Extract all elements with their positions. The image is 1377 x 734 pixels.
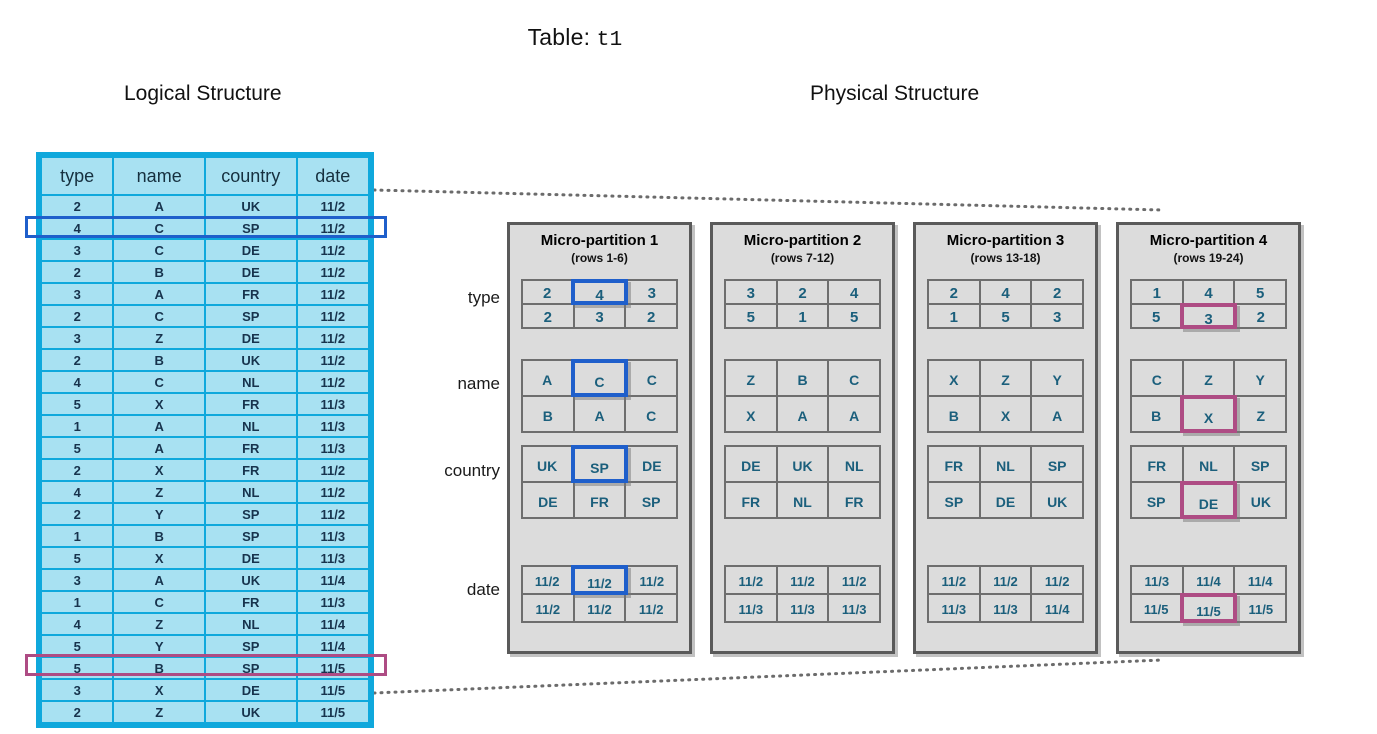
micro-partition-3-cell-type: 2 bbox=[1030, 279, 1084, 305]
logical-cell-country: NL bbox=[206, 614, 296, 634]
logical-cell-name: X bbox=[114, 460, 204, 480]
logical-cell-country: UK bbox=[206, 570, 296, 590]
micro-partition-2-cell-name: B bbox=[776, 359, 830, 397]
logical-table-row: 5XFR11/3 bbox=[42, 394, 368, 414]
logical-table-row: 3ZDE11/2 bbox=[42, 328, 368, 348]
logical-cell-country: FR bbox=[206, 460, 296, 480]
micro-partition-2-cell-name: A bbox=[776, 395, 830, 433]
micro-partition-4-cell-name: Z bbox=[1235, 395, 1287, 433]
physical-column-label-date: date bbox=[467, 580, 500, 600]
micro-partition-4-cell-name: Z bbox=[1182, 359, 1236, 397]
logical-structure-heading: Logical Structure bbox=[124, 82, 282, 106]
micro-partition-1-cell-country: UK bbox=[521, 445, 573, 483]
logical-cell-type: 3 bbox=[42, 570, 112, 590]
micro-partition-3-cell-date: 11/2 bbox=[927, 565, 981, 595]
logical-table-row: 4CNL11/2 bbox=[42, 372, 368, 392]
logical-cell-type: 2 bbox=[42, 196, 112, 216]
cell-row: DEFRSP bbox=[521, 483, 678, 519]
cell-row: 324 bbox=[724, 279, 881, 305]
logical-cell-country: DE bbox=[206, 262, 296, 282]
logical-table-row: 2BDE11/2 bbox=[42, 262, 368, 282]
physical-column-label-type: type bbox=[468, 288, 500, 308]
micro-partition-1-cell-date: 11/2 bbox=[626, 565, 678, 595]
logical-table-row: 3AUK11/4 bbox=[42, 570, 368, 590]
micro-partition-3-cell-date: 11/2 bbox=[979, 565, 1033, 595]
logical-cell-type: 2 bbox=[42, 460, 112, 480]
micro-partition-3-column-name: XZYBXA bbox=[927, 359, 1084, 433]
cell-row: FRNLSP bbox=[1130, 445, 1287, 483]
micro-partition-3-cell-type: 1 bbox=[927, 303, 981, 329]
logical-cell-date: 11/5 bbox=[298, 658, 368, 678]
logical-cell-date: 11/4 bbox=[298, 570, 368, 590]
micro-partition-1-cell-name: B bbox=[521, 395, 575, 433]
logical-cell-type: 5 bbox=[42, 394, 112, 414]
logical-cell-date: 11/2 bbox=[298, 328, 368, 348]
logical-table-row: 3XDE11/5 bbox=[42, 680, 368, 700]
micro-partition-3-cell-name: X bbox=[979, 395, 1033, 433]
micro-partition-1-cell-name: A bbox=[521, 359, 573, 397]
micro-partition-3-cell-type: 3 bbox=[1030, 303, 1084, 329]
logical-cell-type: 4 bbox=[42, 372, 112, 392]
logical-cell-date: 11/2 bbox=[298, 460, 368, 480]
logical-cell-name: B bbox=[114, 262, 204, 282]
logical-table-row: 5BSP11/5 bbox=[42, 658, 368, 678]
logical-cell-type: 5 bbox=[42, 438, 112, 458]
micro-partition-2[interactable]: Micro-partition 2 (rows 7-12) 324515ZBCX… bbox=[710, 222, 895, 654]
micro-partition-4-title: Micro-partition 4 bbox=[1119, 232, 1298, 249]
physical-column-labels: type name country date bbox=[424, 222, 500, 654]
logical-cell-name: Y bbox=[114, 504, 204, 524]
micro-partition-1-selected-cell-date: 11/2 bbox=[571, 565, 627, 595]
cell-row: 11/211/211/2 bbox=[521, 595, 678, 623]
micro-partition-3-cell-type: 5 bbox=[979, 303, 1033, 329]
cell-row: 11/211/211/2 bbox=[927, 565, 1084, 595]
micro-partition-4-column-name: CZYBXZ bbox=[1130, 359, 1287, 433]
logical-cell-type: 1 bbox=[42, 592, 112, 612]
logical-cell-type: 1 bbox=[42, 416, 112, 436]
logical-cell-name: A bbox=[114, 196, 204, 216]
micro-partition-2-cell-country: NL bbox=[827, 445, 881, 483]
logical-cell-country: UK bbox=[206, 196, 296, 216]
physical-column-label-country: country bbox=[444, 461, 500, 481]
logical-cell-country: NL bbox=[206, 482, 296, 502]
micro-partition-4-subtitle: (rows 19-24) bbox=[1119, 251, 1298, 265]
logical-cell-country: FR bbox=[206, 592, 296, 612]
micro-partition-2-cell-type: 2 bbox=[776, 279, 830, 305]
logical-cell-country: SP bbox=[206, 636, 296, 656]
micro-partition-3-column-type: 242153 bbox=[927, 279, 1084, 329]
logical-cell-country: SP bbox=[206, 658, 296, 678]
logical-cell-type: 2 bbox=[42, 350, 112, 370]
logical-table-row: 2XFR11/2 bbox=[42, 460, 368, 480]
logical-cell-country: DE bbox=[206, 240, 296, 260]
micro-partition-2-column-date: 11/211/211/211/311/311/3 bbox=[724, 565, 881, 623]
micro-partition-3-cell-date: 11/3 bbox=[979, 593, 1033, 623]
micro-partition-2-cell-country: FR bbox=[827, 481, 881, 519]
cell-row: SPDEUK bbox=[1130, 483, 1287, 519]
micro-partition-2-cell-date: 11/2 bbox=[724, 565, 778, 595]
logical-table-row: 2YSP11/2 bbox=[42, 504, 368, 524]
logical-cell-date: 11/2 bbox=[298, 504, 368, 524]
micro-partition-3-column-date: 11/211/211/211/311/311/4 bbox=[927, 565, 1084, 623]
logical-cell-name: Z bbox=[114, 702, 204, 722]
logical-cell-country: UK bbox=[206, 350, 296, 370]
logical-cell-name: Y bbox=[114, 636, 204, 656]
logical-cell-name: C bbox=[114, 372, 204, 392]
cell-row: XAA bbox=[724, 397, 881, 433]
logical-cell-name: Z bbox=[114, 614, 204, 634]
micro-partition-1-column-date: 11/211/211/211/211/211/2 bbox=[521, 565, 678, 623]
logical-table-body: 2AUK11/24CSP11/23CDE11/22BDE11/23AFR11/2… bbox=[42, 196, 368, 722]
logical-cell-name: C bbox=[114, 306, 204, 326]
logical-cell-type: 3 bbox=[42, 284, 112, 304]
micro-partition-4-cell-name: C bbox=[1130, 359, 1184, 397]
micro-partition-1-cell-date: 11/2 bbox=[521, 565, 573, 595]
micro-partition-4-selected-cell-type: 3 bbox=[1180, 303, 1236, 329]
logical-table-row: 1CFR11/3 bbox=[42, 592, 368, 612]
micro-partition-3-cell-name: Z bbox=[979, 359, 1033, 397]
logical-cell-type: 3 bbox=[42, 240, 112, 260]
logical-cell-date: 11/2 bbox=[298, 350, 368, 370]
logical-table-row: 5XDE11/3 bbox=[42, 548, 368, 568]
logical-cell-name: A bbox=[114, 570, 204, 590]
logical-cell-type: 4 bbox=[42, 218, 112, 238]
micro-partition-1-selected-cell-country: SP bbox=[571, 445, 627, 483]
logical-cell-date: 11/2 bbox=[298, 240, 368, 260]
micro-partition-4-cell-date: 11/5 bbox=[1130, 593, 1182, 623]
cell-row: 11/311/311/4 bbox=[927, 595, 1084, 623]
micro-partition-2-cell-type: 1 bbox=[776, 303, 830, 329]
cell-row: FRNLFR bbox=[724, 483, 881, 519]
logical-cell-date: 11/3 bbox=[298, 592, 368, 612]
logical-table-row: 2CSP11/2 bbox=[42, 306, 368, 326]
micro-partition-4-cell-country: SP bbox=[1233, 445, 1287, 483]
cell-row: 243 bbox=[521, 279, 678, 305]
logical-cell-country: DE bbox=[206, 680, 296, 700]
logical-cell-name: X bbox=[114, 394, 204, 414]
logical-table-header-row: type name country date bbox=[42, 158, 368, 194]
logical-cell-type: 2 bbox=[42, 702, 112, 722]
micro-partition-3-cell-type: 2 bbox=[927, 279, 981, 305]
cell-row: XZY bbox=[927, 359, 1084, 397]
micro-partition-4-cell-country: UK bbox=[1235, 481, 1287, 519]
cell-row: 11/511/511/5 bbox=[1130, 595, 1287, 623]
logical-cell-country: NL bbox=[206, 372, 296, 392]
logical-column-header-type: type bbox=[42, 158, 112, 194]
cell-row: 153 bbox=[927, 305, 1084, 329]
logical-cell-date: 11/3 bbox=[298, 548, 368, 568]
micro-partition-2-cell-name: Z bbox=[724, 359, 778, 397]
logical-table-row: 2AUK11/2 bbox=[42, 196, 368, 216]
logical-cell-date: 11/2 bbox=[298, 306, 368, 326]
cell-row: CZY bbox=[1130, 359, 1287, 397]
logical-cell-country: UK bbox=[206, 702, 296, 722]
logical-cell-type: 5 bbox=[42, 658, 112, 678]
micro-partition-3[interactable]: Micro-partition 3 (rows 13-18) 242153XZY… bbox=[913, 222, 1098, 654]
logical-cell-date: 11/2 bbox=[298, 218, 368, 238]
logical-cell-name: X bbox=[114, 548, 204, 568]
logical-cell-date: 11/2 bbox=[298, 284, 368, 304]
logical-cell-type: 3 bbox=[42, 328, 112, 348]
micro-partition-4-column-type: 145532 bbox=[1130, 279, 1287, 329]
logical-table-row: 4CSP11/2 bbox=[42, 218, 368, 238]
micro-partition-4-selected-cell-date: 11/5 bbox=[1180, 593, 1236, 623]
logical-cell-date: 11/5 bbox=[298, 702, 368, 722]
logical-column-header-country: country bbox=[206, 158, 296, 194]
cell-row: ZBC bbox=[724, 359, 881, 397]
micro-partition-1-selected-cell-name: C bbox=[571, 359, 627, 397]
micro-partition-3-cell-name: A bbox=[1030, 395, 1084, 433]
micro-partition-3-cell-name: B bbox=[927, 395, 981, 433]
cell-row: BXA bbox=[927, 397, 1084, 433]
cell-row: BAC bbox=[521, 397, 678, 433]
micro-partition-4-cell-type: 5 bbox=[1130, 303, 1182, 329]
logical-cell-date: 11/3 bbox=[298, 394, 368, 414]
micro-partition-1-cell-country: DE bbox=[521, 481, 575, 519]
micro-partition-4-cell-date: 11/5 bbox=[1235, 593, 1287, 623]
cell-row: ACC bbox=[521, 359, 678, 397]
micro-partition-2-cell-date: 11/3 bbox=[827, 593, 881, 623]
logical-cell-name: B bbox=[114, 350, 204, 370]
micro-partition-3-cell-country: FR bbox=[927, 445, 981, 483]
micro-partition-1-selected-cell-type: 4 bbox=[571, 279, 627, 305]
micro-partition-1-cell-type: 2 bbox=[521, 303, 575, 329]
micro-partition-4-cell-date: 11/3 bbox=[1130, 565, 1184, 595]
cell-row: BXZ bbox=[1130, 397, 1287, 433]
cell-row: 145 bbox=[1130, 279, 1287, 305]
micro-partition-1-subtitle: (rows 1-6) bbox=[510, 251, 689, 265]
micro-partition-1-cell-date: 11/2 bbox=[521, 593, 575, 623]
micro-partition-3-cell-country: UK bbox=[1030, 481, 1084, 519]
logical-cell-type: 5 bbox=[42, 636, 112, 656]
cell-row: 11/311/311/3 bbox=[724, 595, 881, 623]
micro-partition-2-cell-country: FR bbox=[724, 481, 778, 519]
micro-partition-2-cell-country: UK bbox=[776, 445, 830, 483]
logical-cell-name: A bbox=[114, 438, 204, 458]
micro-partition-3-cell-country: SP bbox=[927, 481, 981, 519]
micro-partition-1-cell-name: C bbox=[626, 359, 678, 397]
micro-partition-2-cell-country: DE bbox=[724, 445, 778, 483]
micro-partition-4-cell-name: Y bbox=[1233, 359, 1287, 397]
micro-partition-2-cell-date: 11/3 bbox=[776, 593, 830, 623]
logical-cell-type: 2 bbox=[42, 306, 112, 326]
logical-cell-date: 11/2 bbox=[298, 196, 368, 216]
cell-row: 515 bbox=[724, 305, 881, 329]
logical-cell-name: C bbox=[114, 218, 204, 238]
logical-cell-type: 2 bbox=[42, 504, 112, 524]
logical-cell-country: SP bbox=[206, 526, 296, 546]
micro-partition-4-cell-date: 11/4 bbox=[1233, 565, 1287, 595]
cell-row: UKSPDE bbox=[521, 445, 678, 483]
logical-cell-country: SP bbox=[206, 218, 296, 238]
micro-partition-3-cell-date: 11/2 bbox=[1030, 565, 1084, 595]
cell-row: 11/311/411/4 bbox=[1130, 565, 1287, 595]
logical-cell-type: 1 bbox=[42, 526, 112, 546]
logical-cell-type: 5 bbox=[42, 548, 112, 568]
micro-partition-2-cell-type: 4 bbox=[827, 279, 881, 305]
micro-partition-1[interactable]: Micro-partition 1 (rows 1-6) 243232ACCBA… bbox=[507, 222, 692, 654]
logical-cell-country: SP bbox=[206, 504, 296, 524]
micro-partition-2-cell-name: X bbox=[724, 395, 778, 433]
micro-partition-1-cell-country: SP bbox=[624, 481, 678, 519]
micro-partition-1-column-type: 243232 bbox=[521, 279, 678, 329]
micro-partition-1-cell-country: DE bbox=[626, 445, 678, 483]
logical-cell-name: A bbox=[114, 284, 204, 304]
micro-partition-3-cell-date: 11/4 bbox=[1030, 593, 1084, 623]
micro-partition-4-selected-cell-country: DE bbox=[1180, 481, 1236, 519]
logical-table-row: 3AFR11/2 bbox=[42, 284, 368, 304]
logical-table-row: 4ZNL11/4 bbox=[42, 614, 368, 634]
cell-row: DEUKNL bbox=[724, 445, 881, 483]
logical-column-header-date: date bbox=[298, 158, 368, 194]
micro-partition-1-cell-type: 2 bbox=[624, 303, 678, 329]
micro-partition-2-cell-country: NL bbox=[776, 481, 830, 519]
logical-table-row: 1BSP11/3 bbox=[42, 526, 368, 546]
logical-cell-date: 11/2 bbox=[298, 262, 368, 282]
micro-partition-1-cell-name: C bbox=[624, 395, 678, 433]
micro-partition-4[interactable]: Micro-partition 4 (rows 19-24) 145532CZY… bbox=[1116, 222, 1301, 654]
cell-row: FRNLSP bbox=[927, 445, 1084, 483]
micro-partition-2-cell-name: A bbox=[827, 395, 881, 433]
logical-cell-name: Z bbox=[114, 328, 204, 348]
cell-row: 532 bbox=[1130, 305, 1287, 329]
micro-partition-1-cell-date: 11/2 bbox=[624, 593, 678, 623]
logical-cell-country: NL bbox=[206, 416, 296, 436]
micro-partition-2-cell-type: 5 bbox=[827, 303, 881, 329]
logical-cell-date: 11/3 bbox=[298, 526, 368, 546]
logical-cell-date: 11/4 bbox=[298, 614, 368, 634]
micro-partition-4-cell-country: FR bbox=[1130, 445, 1184, 483]
micro-partition-3-cell-country: NL bbox=[979, 445, 1033, 483]
logical-cell-name: Z bbox=[114, 482, 204, 502]
micro-partition-2-cell-type: 3 bbox=[724, 279, 778, 305]
logical-cell-type: 3 bbox=[42, 680, 112, 700]
cell-row: 242 bbox=[927, 279, 1084, 305]
physical-structure-heading: Physical Structure bbox=[810, 82, 979, 106]
micro-partition-4-cell-country: NL bbox=[1182, 445, 1236, 483]
micro-partition-4-cell-type: 2 bbox=[1235, 303, 1287, 329]
logical-cell-type: 2 bbox=[42, 262, 112, 282]
micro-partition-2-cell-type: 5 bbox=[724, 303, 778, 329]
micro-partition-2-column-name: ZBCXAA bbox=[724, 359, 881, 433]
logical-cell-type: 4 bbox=[42, 614, 112, 634]
logical-cell-name: A bbox=[114, 416, 204, 436]
cell-row: SPDEUK bbox=[927, 483, 1084, 519]
logical-cell-date: 11/4 bbox=[298, 636, 368, 656]
page-title-prefix: Table: bbox=[528, 24, 591, 50]
page-title: Table: t1 bbox=[0, 24, 1150, 52]
physical-structure-container: type name country date Micro-partition 1… bbox=[424, 222, 1329, 654]
micro-partition-2-title: Micro-partition 2 bbox=[713, 232, 892, 249]
micro-partition-4-column-country: FRNLSPSPDEUK bbox=[1130, 445, 1287, 519]
logical-table-row: 5YSP11/4 bbox=[42, 636, 368, 656]
logical-cell-date: 11/2 bbox=[298, 372, 368, 392]
micro-partition-4-cell-type: 4 bbox=[1182, 279, 1236, 305]
logical-cell-name: X bbox=[114, 680, 204, 700]
micro-partition-2-cell-date: 11/2 bbox=[827, 565, 881, 595]
logical-cell-country: SP bbox=[206, 306, 296, 326]
logical-table-row: 1ANL11/3 bbox=[42, 416, 368, 436]
micro-partition-4-cell-type: 5 bbox=[1233, 279, 1287, 305]
micro-partition-4-selected-cell-name: X bbox=[1180, 395, 1236, 433]
logical-cell-date: 11/2 bbox=[298, 482, 368, 502]
micro-partition-1-cell-type: 2 bbox=[521, 279, 573, 305]
micro-partition-3-cell-country: SP bbox=[1030, 445, 1084, 483]
micro-partition-3-title: Micro-partition 3 bbox=[916, 232, 1095, 249]
micro-partition-2-column-type: 324515 bbox=[724, 279, 881, 329]
logical-table-row: 5AFR11/3 bbox=[42, 438, 368, 458]
micro-partition-3-cell-country: DE bbox=[979, 481, 1033, 519]
micro-partition-3-cell-type: 4 bbox=[979, 279, 1033, 305]
logical-cell-date: 11/5 bbox=[298, 680, 368, 700]
logical-cell-country: FR bbox=[206, 438, 296, 458]
logical-cell-name: B bbox=[114, 526, 204, 546]
logical-cell-country: FR bbox=[206, 394, 296, 414]
logical-table-row: 4ZNL11/2 bbox=[42, 482, 368, 502]
logical-table-row: 2ZUK11/5 bbox=[42, 702, 368, 722]
micro-partition-2-subtitle: (rows 7-12) bbox=[713, 251, 892, 265]
logical-cell-country: DE bbox=[206, 548, 296, 568]
micro-partition-1-title: Micro-partition 1 bbox=[510, 232, 689, 249]
logical-cell-type: 4 bbox=[42, 482, 112, 502]
logical-cell-country: FR bbox=[206, 284, 296, 304]
page-title-table-name: t1 bbox=[597, 29, 623, 52]
micro-partition-4-cell-type: 1 bbox=[1130, 279, 1184, 305]
micro-partition-3-subtitle: (rows 13-18) bbox=[916, 251, 1095, 265]
micro-partition-3-cell-date: 11/3 bbox=[927, 593, 981, 623]
micro-partition-2-cell-date: 11/3 bbox=[724, 593, 778, 623]
micro-partition-4-cell-country: SP bbox=[1130, 481, 1182, 519]
cell-row: 11/211/211/2 bbox=[521, 565, 678, 595]
micro-partition-2-column-country: DEUKNLFRNLFR bbox=[724, 445, 881, 519]
micro-partition-3-column-country: FRNLSPSPDEUK bbox=[927, 445, 1084, 519]
micro-partition-1-cell-type: 3 bbox=[626, 279, 678, 305]
micro-partition-3-cell-name: X bbox=[927, 359, 981, 397]
micro-partition-2-cell-date: 11/2 bbox=[776, 565, 830, 595]
micro-partition-1-column-name: ACCBAC bbox=[521, 359, 678, 433]
micro-partition-2-cell-name: C bbox=[827, 359, 881, 397]
logical-column-header-name: name bbox=[114, 158, 204, 194]
logical-table-row: 3CDE11/2 bbox=[42, 240, 368, 260]
micro-partition-4-column-date: 11/311/411/411/511/511/5 bbox=[1130, 565, 1287, 623]
logical-cell-date: 11/3 bbox=[298, 416, 368, 436]
logical-cell-name: C bbox=[114, 240, 204, 260]
logical-cell-date: 11/3 bbox=[298, 438, 368, 458]
logical-cell-name: B bbox=[114, 658, 204, 678]
logical-cell-country: DE bbox=[206, 328, 296, 348]
micro-partition-1-column-country: UKSPDEDEFRSP bbox=[521, 445, 678, 519]
logical-cell-name: C bbox=[114, 592, 204, 612]
micro-partition-3-cell-name: Y bbox=[1030, 359, 1084, 397]
micro-partition-4-cell-name: B bbox=[1130, 395, 1182, 433]
physical-column-label-name: name bbox=[457, 374, 500, 394]
logical-table: type name country date 2AUK11/24CSP11/23… bbox=[40, 156, 370, 724]
logical-structure-table-container: type name country date 2AUK11/24CSP11/23… bbox=[36, 152, 374, 728]
cell-row: 11/211/211/2 bbox=[724, 565, 881, 595]
micro-partition-4-cell-date: 11/4 bbox=[1182, 565, 1236, 595]
logical-table-row: 2BUK11/2 bbox=[42, 350, 368, 370]
